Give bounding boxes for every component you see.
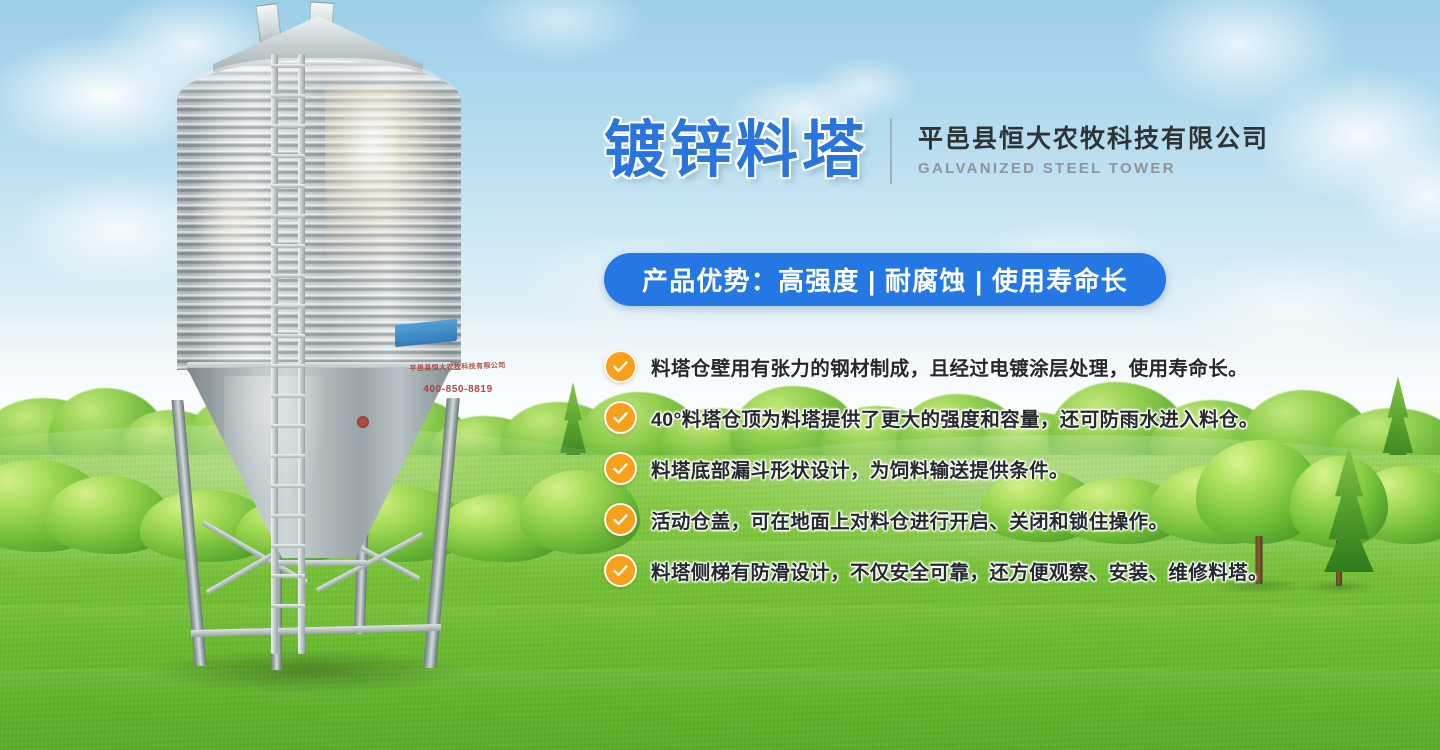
hero-banner: 平邑县恒大农牧科技有限公司 400-850-8819 (0, 0, 1440, 750)
feature-text: 料塔侧梯有防滑设计，不仅安全可靠，还方便观察、安装、维修料塔。 (651, 556, 1268, 585)
feature-text: 活动仓盖，可在地面上对料仓进行开启、关闭和锁住操作。 (651, 505, 1168, 534)
list-item: 料塔仓壁用有张力的钢材制成，且经过电镀涂层处理，使用寿命长。 (604, 348, 1304, 384)
feature-text: 料塔仓壁用有张力的钢材制成，且经过电镀涂层处理，使用寿命长。 (651, 352, 1248, 381)
list-item: 活动仓盖，可在地面上对料仓进行开启、关闭和锁住操作。 (604, 501, 1304, 537)
list-item: 料塔侧梯有防滑设计，不仅安全可靠，还方便观察、安装、维修料塔。 (604, 552, 1304, 588)
company-block: 平邑县恒大农牧科技有限公司 GALVANIZED STEEL TOWER (918, 127, 1269, 176)
feature-text: 料塔底部漏斗形状设计，为饲料输送提供条件。 (651, 454, 1069, 483)
advantage-pill-label: 产品优势：高强度 | 耐腐蚀 | 使用寿命长 (642, 261, 1128, 298)
feature-text: 40°料塔仓顶为料塔提供了更大的强度和容量，还可防雨水进入料仓。 (651, 403, 1259, 432)
page-title: 镀锌料塔 (604, 120, 868, 182)
headline-row: 镀锌料塔 平邑县恒大农牧科技有限公司 GALVANIZED STEEL TOWE… (604, 118, 1269, 184)
check-circle-icon (604, 503, 637, 536)
check-circle-icon (604, 401, 637, 434)
title-divider (890, 118, 892, 184)
advantage-pill[interactable]: 产品优势：高强度 | 耐腐蚀 | 使用寿命长 (604, 253, 1166, 306)
list-item: 40°料塔仓顶为料塔提供了更大的强度和容量，还可防雨水进入料仓。 (604, 399, 1304, 435)
check-circle-icon (604, 554, 637, 587)
check-circle-icon (604, 452, 637, 485)
company-subtitle-en: GALVANIZED STEEL TOWER (918, 161, 1269, 176)
check-circle-icon (604, 350, 637, 383)
feature-list: 料塔仓壁用有张力的钢材制成，且经过电镀涂层处理，使用寿命长。 40°料塔仓顶为料… (604, 348, 1304, 603)
list-item: 料塔底部漏斗形状设计，为饲料输送提供条件。 (604, 450, 1304, 486)
company-name: 平邑县恒大农牧科技有限公司 (918, 127, 1269, 152)
